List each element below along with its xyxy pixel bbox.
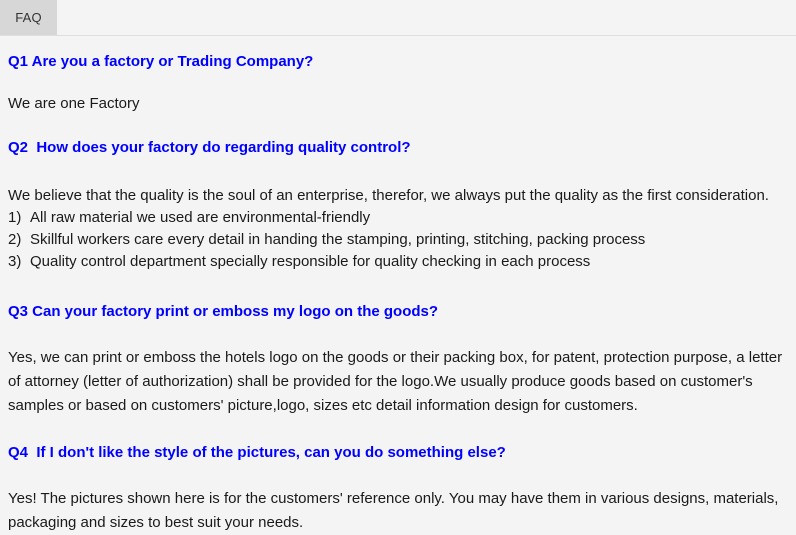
faq-content: Q1 Are you a factory or Trading Company?…	[0, 53, 796, 535]
tab-faq-label: FAQ	[15, 11, 42, 24]
list-item-marker: 1)	[8, 207, 30, 229]
tab-faq[interactable]: FAQ	[0, 0, 57, 35]
question-4-heading: Q4 If I don't like the style of the pict…	[8, 444, 788, 461]
answer-3-text: Yes, we can print or emboss the hotels l…	[8, 346, 788, 418]
question-2-heading: Q2 How does your factory do regarding qu…	[8, 139, 788, 156]
faq-page: FAQ Q1 Are you a factory or Trading Comp…	[0, 0, 796, 533]
question-1-heading: Q1 Are you a factory or Trading Company?	[8, 53, 788, 70]
list-item: 1) All raw material we used are environm…	[8, 207, 788, 229]
list-item: 3) Quality control department specially …	[8, 251, 788, 273]
list-item: 2) Skillful workers care every detail in…	[8, 229, 788, 251]
list-item-marker: 2)	[8, 229, 30, 251]
tab-strip: FAQ	[0, 0, 796, 36]
list-item-text: Skillful workers care every detail in ha…	[30, 229, 788, 251]
list-item-marker: 3)	[8, 251, 30, 273]
question-3-heading: Q3 Can your factory print or emboss my l…	[8, 303, 788, 320]
answer-1-text: We are one Factory	[8, 93, 788, 115]
list-item-text: Quality control department specially res…	[30, 251, 788, 273]
list-item-text: All raw material we used are environment…	[30, 207, 788, 229]
answer-4-text: Yes! The pictures shown here is for the …	[8, 487, 788, 535]
answer-2-intro: We believe that the quality is the soul …	[8, 185, 788, 207]
answer-2-list: 1) All raw material we used are environm…	[8, 207, 788, 273]
